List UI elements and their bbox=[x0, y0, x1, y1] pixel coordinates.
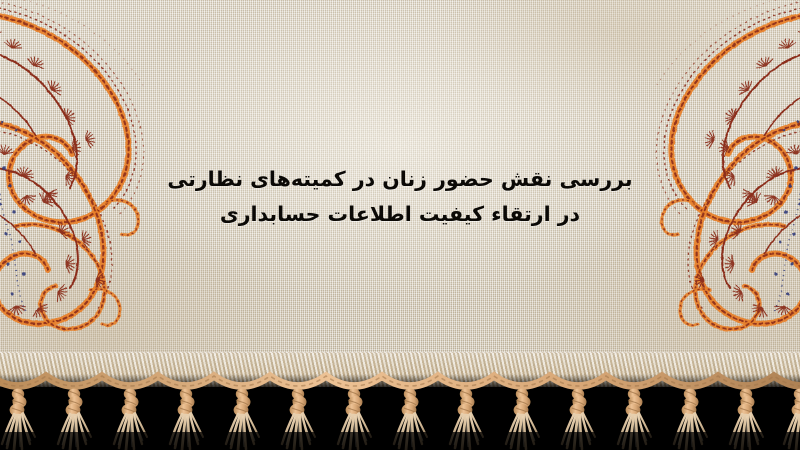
title-line-2: در ارتقاء کیفیت اطلاعات حسابداری bbox=[0, 197, 800, 232]
textile-title-card: بررسی نقش حضور زنان در کمیته‌های نظارتی … bbox=[0, 0, 800, 450]
title-block: بررسی نقش حضور زنان در کمیته‌های نظارتی … bbox=[0, 162, 800, 232]
title-line-1: بررسی نقش حضور زنان در کمیته‌های نظارتی bbox=[0, 162, 800, 197]
knotted-tassel-fringe bbox=[0, 360, 800, 450]
